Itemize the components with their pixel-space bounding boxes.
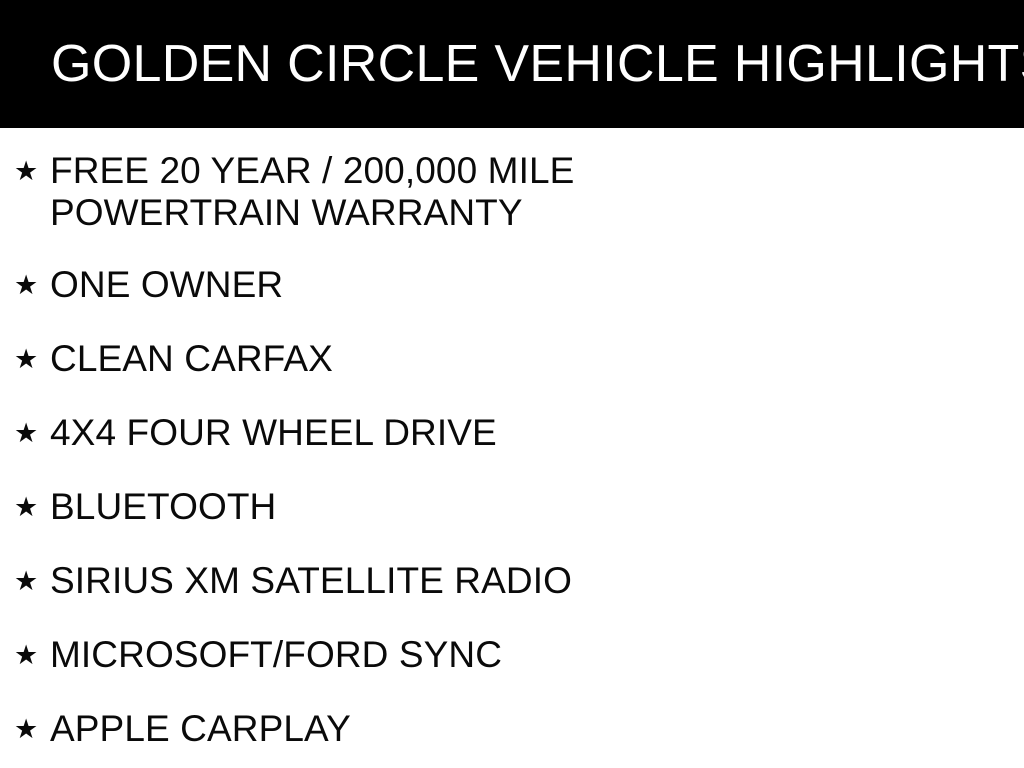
list-item: ★ BLUETOOTH bbox=[0, 486, 1024, 528]
star-icon: ★ bbox=[14, 560, 50, 602]
list-item: ★ ONE OWNER bbox=[0, 264, 1024, 306]
star-icon: ★ bbox=[14, 486, 50, 528]
star-icon: ★ bbox=[14, 338, 50, 380]
list-item: ★ CLEAN CARFAX bbox=[0, 338, 1024, 380]
star-icon: ★ bbox=[14, 634, 50, 676]
highlight-label: SIRIUS XM SATELLITE RADIO bbox=[50, 560, 1024, 602]
star-icon: ★ bbox=[14, 708, 50, 750]
star-icon: ★ bbox=[14, 264, 50, 306]
star-icon: ★ bbox=[14, 412, 50, 454]
highlight-label: CLEAN CARFAX bbox=[50, 338, 1024, 380]
highlight-label: FREE 20 YEAR / 200,000 MILE POWERTRAIN W… bbox=[50, 150, 1024, 234]
header-banner: GOLDEN CIRCLE VEHICLE HIGHLIGHTS bbox=[0, 0, 1024, 128]
list-item: ★ FREE 20 YEAR / 200,000 MILE POWERTRAIN… bbox=[0, 150, 1024, 234]
list-item: ★ SIRIUS XM SATELLITE RADIO bbox=[0, 560, 1024, 602]
highlight-label: BLUETOOTH bbox=[50, 486, 1024, 528]
vehicle-highlights-list: ★ FREE 20 YEAR / 200,000 MILE POWERTRAIN… bbox=[0, 128, 1024, 768]
star-icon: ★ bbox=[14, 150, 50, 192]
highlight-label: 4X4 FOUR WHEEL DRIVE bbox=[50, 412, 1024, 454]
list-item: ★ APPLE CARPLAY bbox=[0, 708, 1024, 750]
list-item: ★ 4X4 FOUR WHEEL DRIVE bbox=[0, 412, 1024, 454]
highlight-label: APPLE CARPLAY bbox=[50, 708, 1024, 750]
highlight-label: ONE OWNER bbox=[50, 264, 1024, 306]
page-title: GOLDEN CIRCLE VEHICLE HIGHLIGHTS bbox=[51, 33, 1024, 95]
list-item: ★ MICROSOFT/FORD SYNC bbox=[0, 634, 1024, 676]
highlight-label: MICROSOFT/FORD SYNC bbox=[50, 634, 1024, 676]
